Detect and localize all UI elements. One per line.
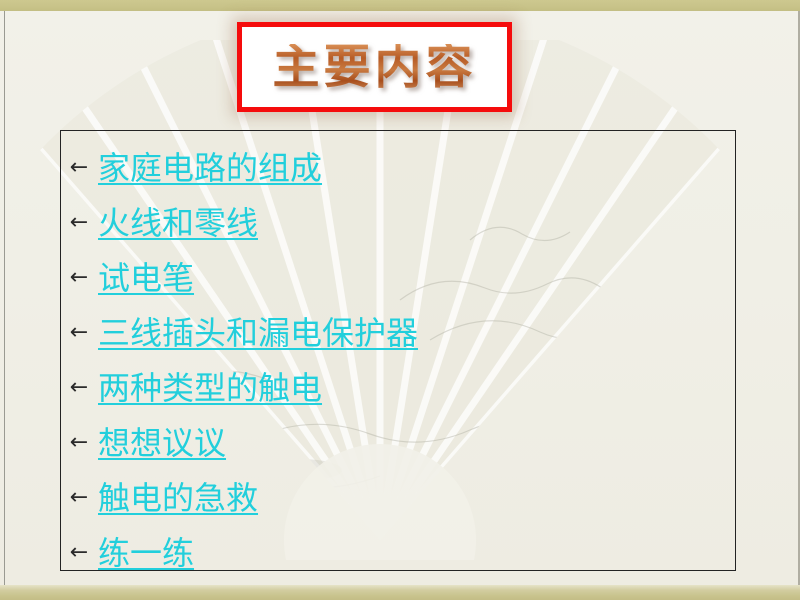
list-item[interactable]: ← 火线和零线	[60, 193, 760, 248]
bottom-decor-band	[0, 585, 800, 600]
toc-link-test-pencil[interactable]: 试电笔	[98, 253, 194, 299]
list-item[interactable]: ← 三线插头和漏电保护器	[60, 303, 760, 358]
left-arrow-icon: ←	[60, 483, 98, 509]
toc-link-two-types-of-electric-shock[interactable]: 两种类型的触电	[98, 363, 322, 409]
page-title: 主要内容	[273, 44, 477, 91]
top-decor-band	[0, 0, 800, 11]
list-item[interactable]: ← 家庭电路的组成	[60, 138, 760, 193]
toc-link-live-and-neutral-wire[interactable]: 火线和零线	[98, 198, 258, 244]
left-arrow-icon: ←	[60, 318, 98, 344]
presentation-slide: 主要内容 ← 家庭电路的组成 ← 火线和零线 ← 试电笔 ← 三线插头和漏电保护…	[0, 0, 800, 600]
left-arrow-icon: ←	[60, 208, 98, 234]
left-arrow-icon: ←	[60, 428, 98, 454]
list-item[interactable]: ← 练一练	[60, 523, 760, 578]
table-of-contents-list: ← 家庭电路的组成 ← 火线和零线 ← 试电笔 ← 三线插头和漏电保护器 ← 两…	[60, 138, 760, 578]
title-wordart-box: 主要内容	[237, 22, 512, 112]
list-item[interactable]: ← 想想议议	[60, 413, 760, 468]
left-edge-rule	[4, 11, 5, 585]
toc-link-three-pin-plug-and-rcd[interactable]: 三线插头和漏电保护器	[98, 308, 418, 354]
toc-link-think-and-discuss[interactable]: 想想议议	[98, 418, 226, 464]
list-item[interactable]: ← 两种类型的触电	[60, 358, 760, 413]
left-arrow-icon: ←	[60, 263, 98, 289]
list-item[interactable]: ← 触电的急救	[60, 468, 760, 523]
left-arrow-icon: ←	[60, 373, 98, 399]
list-item[interactable]: ← 试电笔	[60, 248, 760, 303]
toc-link-practice[interactable]: 练一练	[98, 528, 194, 574]
left-arrow-icon: ←	[60, 153, 98, 179]
left-arrow-icon: ←	[60, 538, 98, 564]
toc-link-home-circuit-composition[interactable]: 家庭电路的组成	[98, 143, 322, 189]
toc-link-first-aid-for-shock[interactable]: 触电的急救	[98, 473, 258, 519]
